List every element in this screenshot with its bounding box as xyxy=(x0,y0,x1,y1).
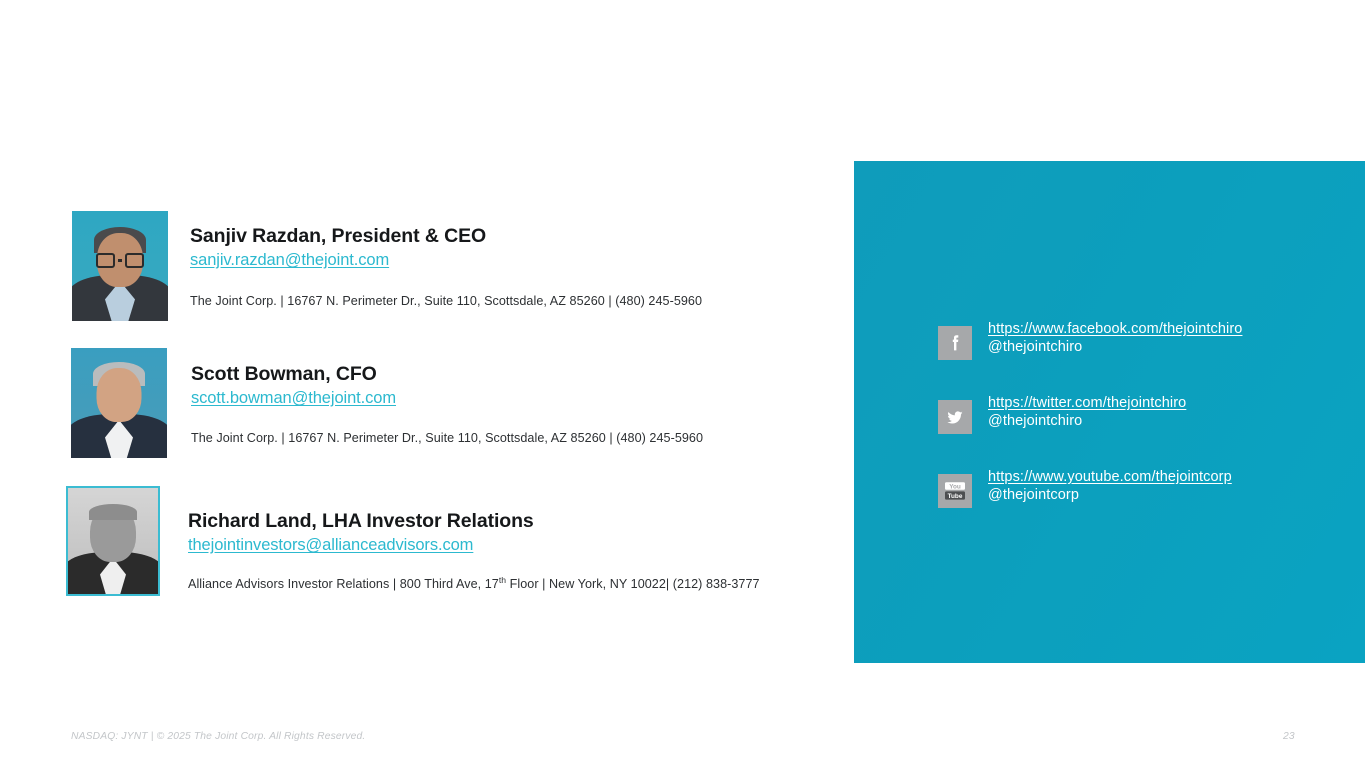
contact-card-president-ceo: Sanjiv Razdan, President & CEO sanjiv.ra… xyxy=(72,211,702,321)
facebook-handle: @thejointchiro xyxy=(988,338,1242,356)
contact-card-cfo: Scott Bowman, CFO scott.bowman@thejoint.… xyxy=(71,348,703,458)
footer-legal-note: NASDAQ: JYNT | © 2025 The Joint Corp. Al… xyxy=(71,731,365,742)
contact-address: Alliance Advisors Investor Relations | 8… xyxy=(188,576,760,593)
contact-info: Scott Bowman, CFO scott.bowman@thejoint.… xyxy=(191,348,703,447)
twitter-url[interactable]: https://twitter.com/thejointchiro xyxy=(988,395,1186,412)
youtube-icon[interactable]: You Tube xyxy=(938,474,972,508)
twitter-text: https://twitter.com/thejointchiro @thejo… xyxy=(988,395,1186,430)
contact-info: Sanjiv Razdan, President & CEO sanjiv.ra… xyxy=(190,211,702,310)
contact-name: Sanjiv Razdan, President & CEO xyxy=(190,224,702,248)
social-row-facebook[interactable]: https://www.facebook.com/thejointchiro @… xyxy=(938,321,1338,395)
contact-address: The Joint Corp. | 16767 N. Perimeter Dr.… xyxy=(190,293,702,310)
contact-card-investor-relations: Richard Land, LHA Investor Relations the… xyxy=(66,486,760,596)
youtube-handle: @thejointcorp xyxy=(988,486,1232,504)
social-links-list: https://www.facebook.com/thejointchiro @… xyxy=(938,321,1338,543)
svg-text:You: You xyxy=(949,483,961,490)
facebook-text: https://www.facebook.com/thejointchiro @… xyxy=(988,321,1242,356)
facebook-icon[interactable] xyxy=(938,326,972,360)
contact-name: Richard Land, LHA Investor Relations xyxy=(188,509,760,533)
scott-bowman-headshot xyxy=(71,348,167,458)
facebook-url[interactable]: https://www.facebook.com/thejointchiro xyxy=(988,321,1242,338)
sanjiv-razdan-headshot xyxy=(72,211,168,321)
contact-name: Scott Bowman, CFO xyxy=(191,362,703,386)
youtube-text: https://www.youtube.com/thejointcorp @th… xyxy=(988,469,1232,504)
address-text-before: Alliance Advisors Investor Relations | 8… xyxy=(188,577,499,591)
twitter-icon[interactable] xyxy=(938,400,972,434)
svg-text:Tube: Tube xyxy=(948,493,963,500)
contact-info: Richard Land, LHA Investor Relations the… xyxy=(188,486,760,593)
contact-address: The Joint Corp. | 16767 N. Perimeter Dr.… xyxy=(191,430,703,447)
social-media-panel: https://www.facebook.com/thejointchiro @… xyxy=(854,161,1365,663)
social-row-twitter[interactable]: https://twitter.com/thejointchiro @thejo… xyxy=(938,395,1338,469)
richard-land-headshot xyxy=(66,486,160,596)
contact-email-link[interactable]: scott.bowman@thejoint.com xyxy=(191,387,703,409)
contact-email-link[interactable]: sanjiv.razdan@thejoint.com xyxy=(190,249,702,271)
youtube-url[interactable]: https://www.youtube.com/thejointcorp xyxy=(988,469,1232,486)
page-number: 23 xyxy=(1283,731,1295,742)
social-row-youtube[interactable]: You Tube https://www.youtube.com/thejoin… xyxy=(938,469,1338,543)
twitter-handle: @thejointchiro xyxy=(988,412,1186,430)
contact-email-link[interactable]: thejointinvestors@allianceadvisors.com xyxy=(188,534,760,556)
address-text-after: Floor | New York, NY 10022| (212) 838-37… xyxy=(506,577,760,591)
